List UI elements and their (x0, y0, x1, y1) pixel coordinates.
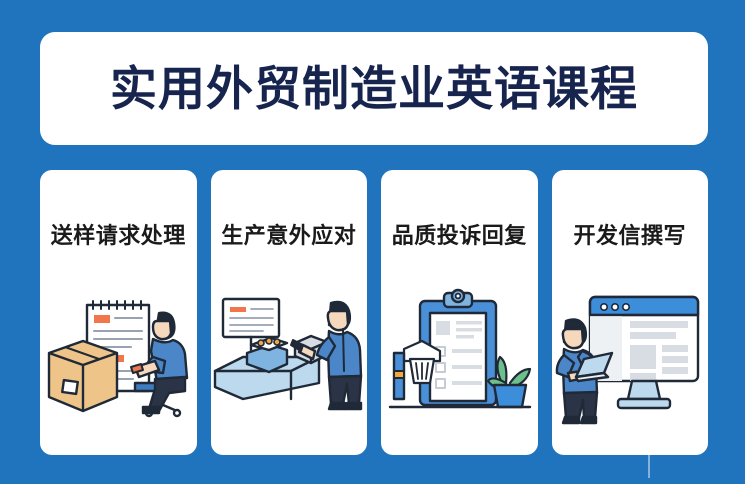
feature-card-quality-complaint[interactable]: 品质投诉回复 (381, 170, 538, 455)
illustration-production-incident (211, 287, 368, 427)
illustration-sample-request (40, 287, 197, 427)
text-cursor-artifact (648, 455, 650, 478)
feature-card-sample-request[interactable]: 送样请求处理 (40, 170, 197, 455)
poster-canvas: 实用外贸制造业英语课程 送样请求处理 (0, 0, 745, 484)
feature-card-production-incident[interactable]: 生产意外应对 (211, 170, 368, 455)
card-title: 品质投诉回复 (381, 218, 538, 250)
title-banner: 实用外贸制造业英语课程 (40, 32, 708, 145)
feature-card-outreach-email[interactable]: 开发信撰写 (552, 170, 709, 455)
illustration-outreach-email (552, 287, 709, 427)
feature-card-row: 送样请求处理 (40, 170, 708, 455)
page-title: 实用外贸制造业英语课程 (110, 65, 638, 112)
card-title: 生产意外应对 (211, 218, 368, 250)
card-title: 开发信撰写 (552, 218, 709, 250)
card-title: 送样请求处理 (40, 218, 197, 250)
illustration-quality-complaint (381, 287, 538, 427)
